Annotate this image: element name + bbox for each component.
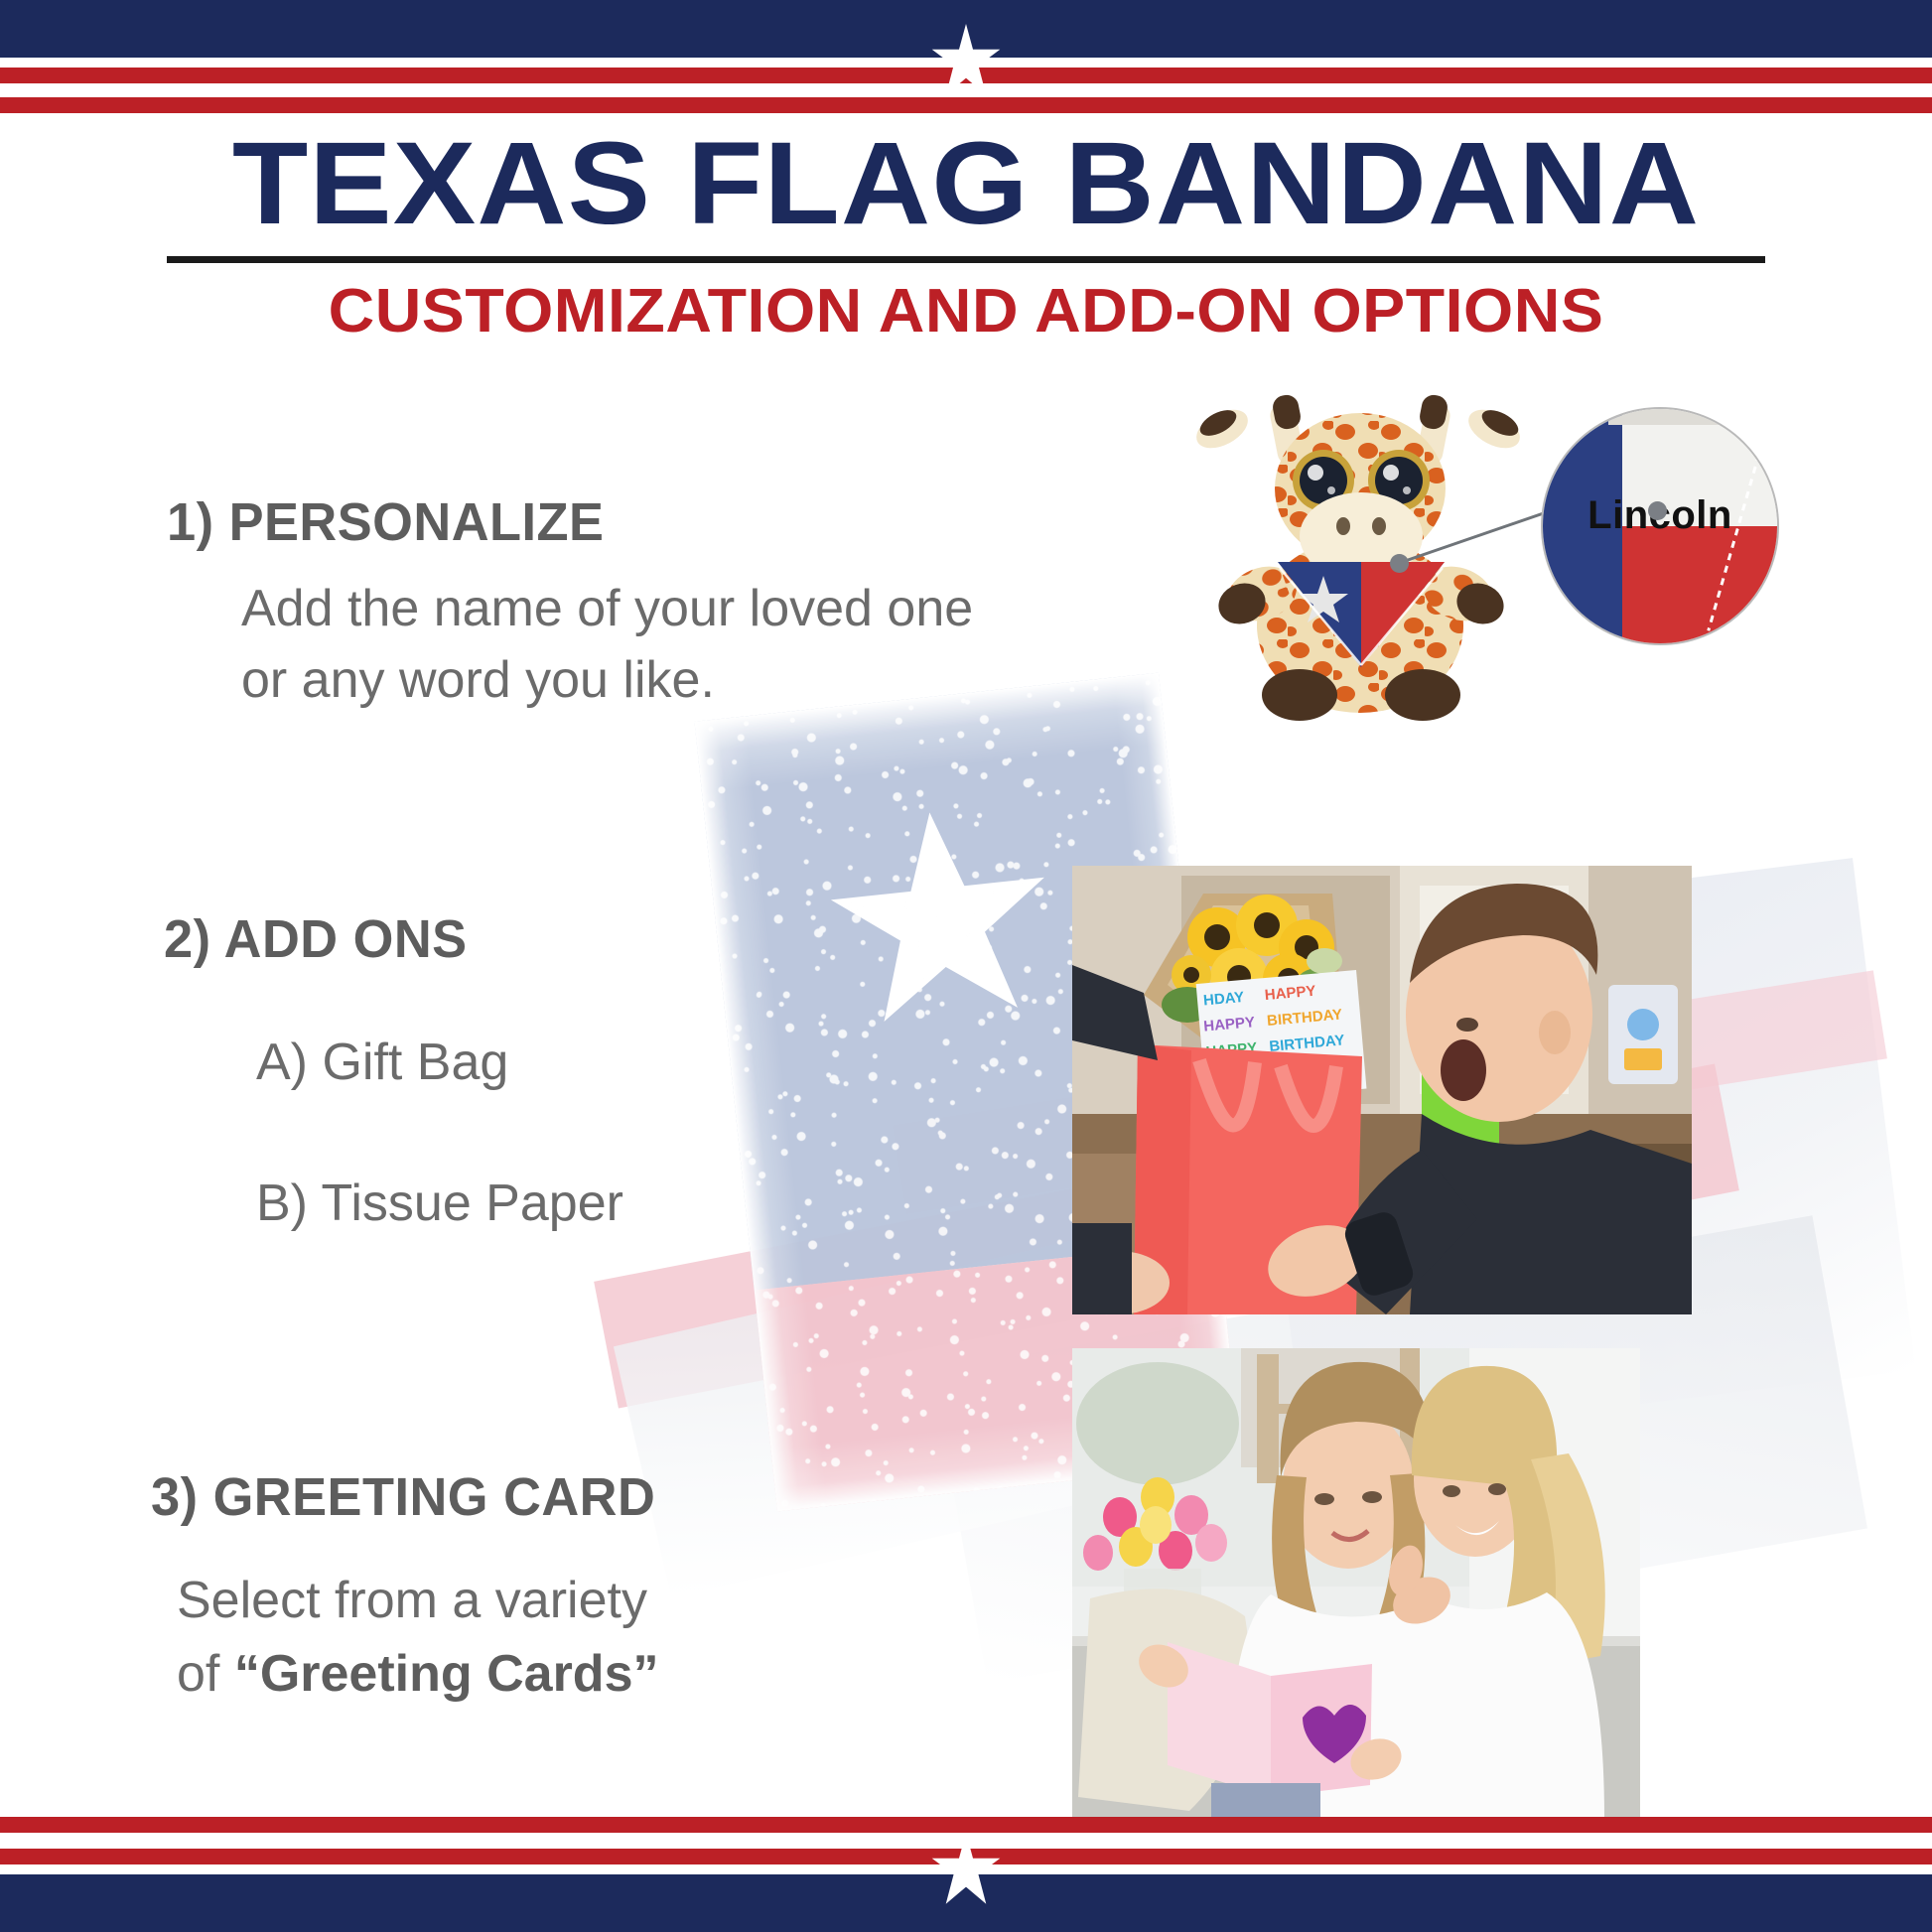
- bottom-border-star-icon: [927, 1833, 1005, 1910]
- watermark-star-icon: [815, 794, 1066, 1045]
- detail-bandana-red-panel: [1622, 526, 1777, 643]
- bandana-name-detail-circle: Lincoln: [1541, 407, 1779, 645]
- step-2-heading: 2) ADD ONS: [164, 908, 468, 970]
- header-title-block: TEXAS FLAG BANDANA CUSTOMIZATION AND ADD…: [0, 125, 1932, 343]
- step-3-heading: 3) GREETING CARD: [151, 1466, 655, 1528]
- step-3-body: Select from a variety of “Greeting Cards…: [177, 1565, 658, 1712]
- step-3-body-line-1: Select from a variety: [177, 1565, 658, 1638]
- step-2-option-gift-bag: A) Gift Bag: [256, 1033, 508, 1092]
- top-border-star-icon: [927, 24, 1005, 101]
- detail-connector-dot-target: [1648, 501, 1667, 520]
- top-border-white-gap-3: [0, 113, 1932, 121]
- svg-text:HDAY: HDAY: [1202, 989, 1244, 1010]
- bottom-border-red-stripe-2: [0, 1817, 1932, 1833]
- step-2-option-tissue-paper: B) Tissue Paper: [256, 1173, 623, 1233]
- greeting-card-photo: [1072, 1348, 1640, 1819]
- gift-bag-photo: HDAY HAPPY HAPPY BIRTHDAY HAPPY BIRTHDAY…: [1072, 866, 1692, 1314]
- step-3-body-line-2-prefix: of: [177, 1645, 234, 1703]
- step-1-body: Add the name of your loved one or any wo…: [241, 574, 973, 717]
- page-subtitle: CUSTOMIZATION AND ADD-ON OPTIONS: [0, 281, 1932, 343]
- page-title: TEXAS FLAG BANDANA: [0, 125, 1932, 242]
- detail-bandana-hem: [1608, 409, 1777, 425]
- step-1-body-line-2: or any word you like.: [241, 645, 973, 717]
- step-1-body-line-1: Add the name of your loved one: [241, 574, 973, 645]
- step-3-body-line-2-quoted: “Greeting Cards”: [234, 1645, 659, 1703]
- step-1-heading: 1) PERSONALIZE: [167, 491, 604, 553]
- giraffe-plush-image: [1196, 377, 1524, 725]
- step-3-body-line-2: of “Greeting Cards”: [177, 1638, 658, 1712]
- detail-connector-dot-source: [1390, 554, 1409, 573]
- title-divider-rule: [167, 256, 1765, 263]
